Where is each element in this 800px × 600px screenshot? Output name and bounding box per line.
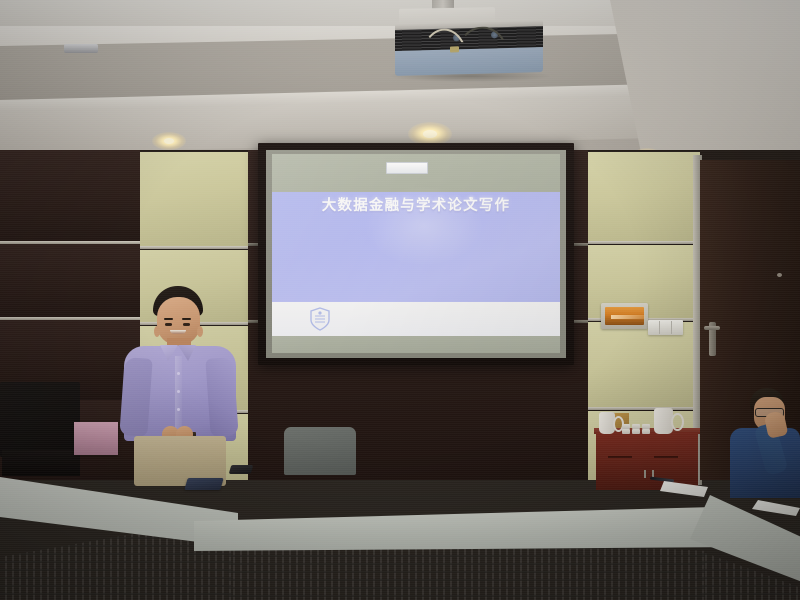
wall-trim: [588, 407, 700, 410]
projector: [395, 20, 543, 76]
stacked-cup: [632, 429, 640, 434]
name-placard: [74, 422, 118, 455]
meeting-room-photo: 大数据金融与学术论文写作: [0, 0, 800, 600]
door-handle-plate[interactable]: [704, 326, 720, 330]
wall-panel-dark: [0, 244, 140, 318]
conference-table[interactable]: [0, 455, 800, 600]
microphone-stub: [644, 470, 646, 478]
pitcher-handle: [671, 413, 684, 431]
light-switch-panel[interactable]: [648, 320, 683, 335]
wall-panel-dark: [0, 150, 140, 242]
downlight-icon: [152, 132, 186, 150]
stacked-cup: [622, 429, 630, 434]
university-crest-logo: [309, 307, 331, 331]
wall-trim: [588, 241, 700, 244]
presenter-smile: [170, 330, 186, 334]
presentation-slide: 大数据金融与学术论文写作: [272, 154, 560, 353]
slide-title: 大数据金融与学术论文写作: [272, 194, 560, 215]
wall-trim: [0, 317, 140, 320]
presentation-toolbar[interactable]: [386, 162, 428, 174]
projection-screen[interactable]: 大数据金融与学术论文写作: [272, 154, 560, 353]
wall-socket-plate: [601, 303, 648, 329]
wall-panel-light: [588, 152, 700, 242]
projector-lens: [64, 44, 98, 53]
presenter-sleeve-right: [205, 357, 238, 437]
wall-socket-highlight: [611, 315, 645, 319]
wall-socket-inner: [605, 307, 644, 325]
desktop-monitor[interactable]: [0, 382, 80, 457]
slide-letterbox-bottom: [272, 336, 560, 353]
door-peephole-icon: [777, 273, 782, 277]
mobile-phone[interactable]: [229, 465, 254, 474]
stacked-cup: [642, 429, 650, 434]
wall-panel-light: [140, 152, 255, 247]
presenter-sleeve-left: [119, 357, 152, 437]
ceiling-right-wedge: [610, 0, 800, 150]
wall-panel-light: [588, 322, 700, 408]
wall-trim: [0, 241, 140, 244]
notebook[interactable]: [184, 478, 223, 490]
wall-trim: [140, 246, 255, 249]
